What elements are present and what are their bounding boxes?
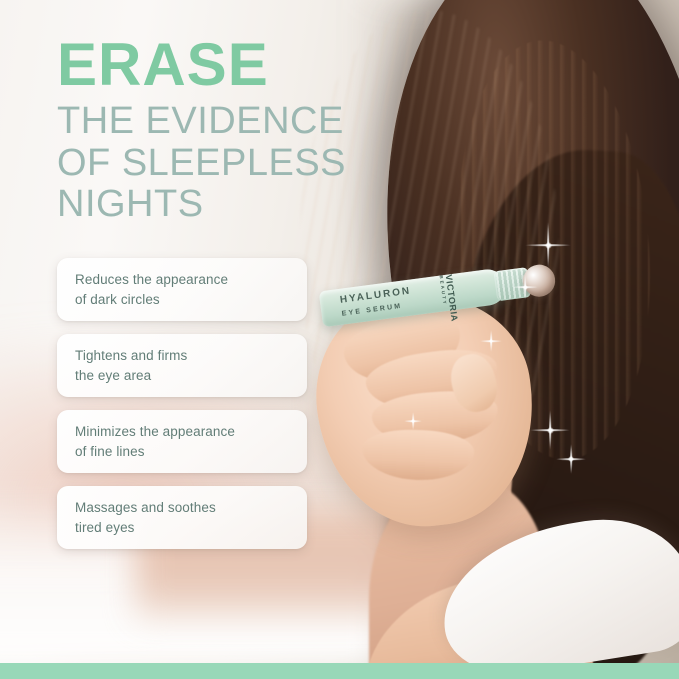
benefit-card-text: Reduces the appearance of dark circles: [75, 270, 228, 308]
benefit-card[interactable]: Tightens and firms the eye area: [57, 334, 307, 397]
benefit-card[interactable]: Massages and soothes tired eyes: [57, 486, 307, 549]
benefit-card[interactable]: Minimizes the appearance of fine lines: [57, 410, 307, 473]
benefit-card-list: Reduces the appearance of dark circles T…: [57, 258, 307, 562]
benefit-card-text: Tightens and firms the eye area: [75, 346, 187, 384]
headline-block: ERASE THE EVIDENCE OF SLEEPLESS NIGHTS: [57, 36, 477, 226]
ad-copy-overlay: ERASE THE EVIDENCE OF SLEEPLESS NIGHTS R…: [0, 0, 679, 679]
benefit-card-text: Massages and soothes tired eyes: [75, 498, 216, 536]
headline-primary: ERASE: [57, 36, 477, 95]
bottom-accent-bar: [0, 663, 679, 679]
headline-secondary: THE EVIDENCE OF SLEEPLESS NIGHTS: [57, 101, 477, 226]
product-benefits-ad: HYALURON EYE SERUM VICTORIA BEAUTY: [0, 0, 679, 679]
benefit-card[interactable]: Reduces the appearance of dark circles: [57, 258, 307, 321]
benefit-card-text: Minimizes the appearance of fine lines: [75, 422, 235, 460]
